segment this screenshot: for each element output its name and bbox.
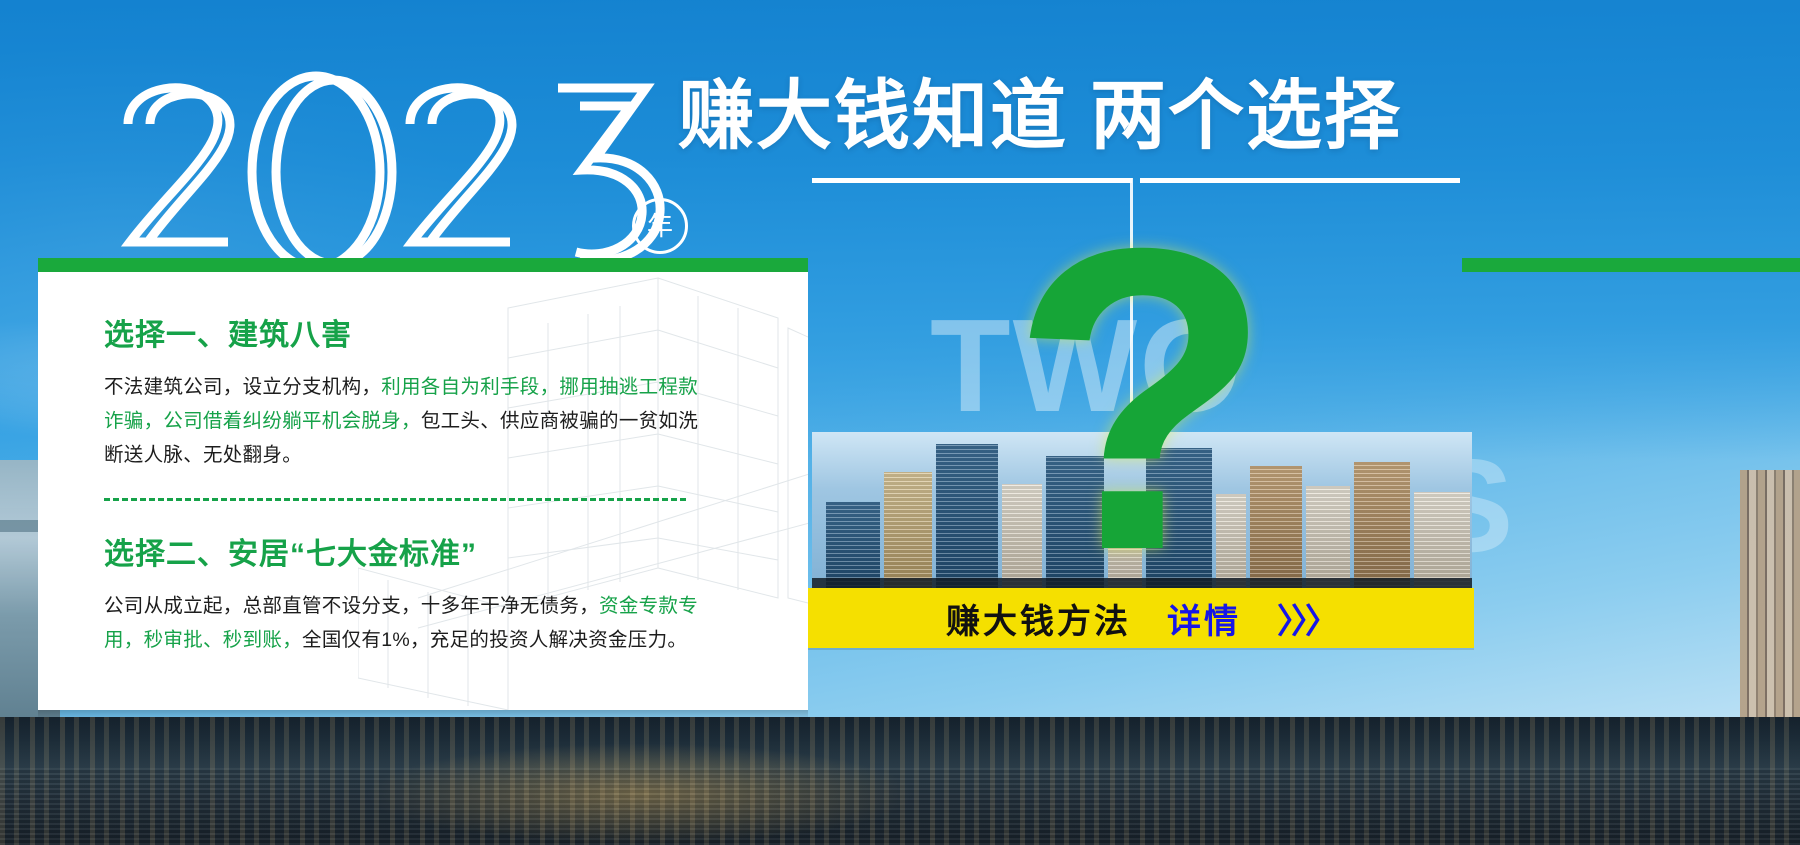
body-run-green: 用，秒审批、秒到账， xyxy=(104,629,302,651)
body-run-green: 诈骗，公司借着纠纷躺平机会脱身， xyxy=(104,410,421,432)
bottom-strip-ripples xyxy=(0,768,1800,845)
body-run: 包工头、供应商被骗的一贫如洗 xyxy=(421,410,698,432)
body-line: 断送人脉、无处翻身。 xyxy=(104,444,302,466)
headline-part2: 两个选择 xyxy=(1090,74,1402,159)
year-unit-badge: 年 xyxy=(632,198,688,254)
section-body: 公司从成立起，总部直管不设分支，十多年干净无债务，资金专款专 用，秒审批、秒到账… xyxy=(104,589,776,657)
body-run: 不法建筑公司，设立分支机构， xyxy=(104,376,381,398)
body-run: 断送人脉、无处翻身。 xyxy=(104,444,302,466)
right-buildings-photo xyxy=(1740,470,1800,720)
green-accent-bar-right xyxy=(1462,258,1800,272)
body-run: 公司从成立起，总部直管不设分支，十多年干净无债务， xyxy=(104,595,599,617)
body-line: 公司从成立起，总部直管不设分支，十多年干净无债务，资金专款专 xyxy=(104,595,698,617)
cta-main-label: 赚大钱方法 xyxy=(946,594,1131,643)
headline-part1: 赚大钱知道 xyxy=(678,74,1068,159)
chevron-right-icon: 〉〉〉 xyxy=(1277,594,1336,643)
card-content: 选择一、建筑八害 不法建筑公司，设立分支机构，利用各自为利手段，挪用抽逃工程款 … xyxy=(104,310,776,657)
section-choice-two: 选择二、安居“七大金标准” 公司从成立起，总部直管不设分支，十多年干净无债务，资… xyxy=(104,529,776,657)
question-mark-icon: ? xyxy=(1010,210,1273,590)
cta-detail-label: 详情 xyxy=(1167,594,1241,643)
card-top-green-bar xyxy=(38,258,808,272)
body-run-green: 资金专款专 xyxy=(599,595,698,617)
body-line: 诈骗，公司借着纠纷躺平机会脱身，包工头、供应商被骗的一贫如洗 xyxy=(104,410,698,432)
bottom-waterfront-strip xyxy=(0,717,1800,845)
section-body: 不法建筑公司，设立分支机构，利用各自为利手段，挪用抽逃工程款 诈骗，公司借着纠纷… xyxy=(104,370,776,472)
year-2023-graphic xyxy=(110,66,690,276)
section-title: 选择一、建筑八害 xyxy=(104,310,776,354)
page-title: 赚大钱知道两个选择 xyxy=(678,74,1402,160)
section-title: 选择二、安居“七大金标准” xyxy=(104,529,776,573)
content-card: 选择一、建筑八害 不法建筑公司，设立分支机构，利用各自为利手段，挪用抽逃工程款 … xyxy=(38,258,808,710)
section-divider xyxy=(104,498,686,501)
body-line: 不法建筑公司，设立分支机构，利用各自为利手段，挪用抽逃工程款 xyxy=(104,376,698,398)
poster-stage: 年 赚大钱知道两个选择 TWO CHOICES ? 赚大钱方法 详情 〉〉〉 xyxy=(0,0,1800,845)
body-run-green: 利用各自为利手段，挪用抽逃工程款 xyxy=(381,376,698,398)
cta-button[interactable]: 赚大钱方法 详情 〉〉〉 xyxy=(808,588,1474,648)
body-line: 用，秒审批、秒到账，全国仅有1%，充足的投资人解决资金压力。 xyxy=(104,629,687,651)
section-choice-one: 选择一、建筑八害 不法建筑公司，设立分支机构，利用各自为利手段，挪用抽逃工程款 … xyxy=(104,310,776,472)
body-run: 全国仅有1%，充足的投资人解决资金压力。 xyxy=(302,629,687,651)
